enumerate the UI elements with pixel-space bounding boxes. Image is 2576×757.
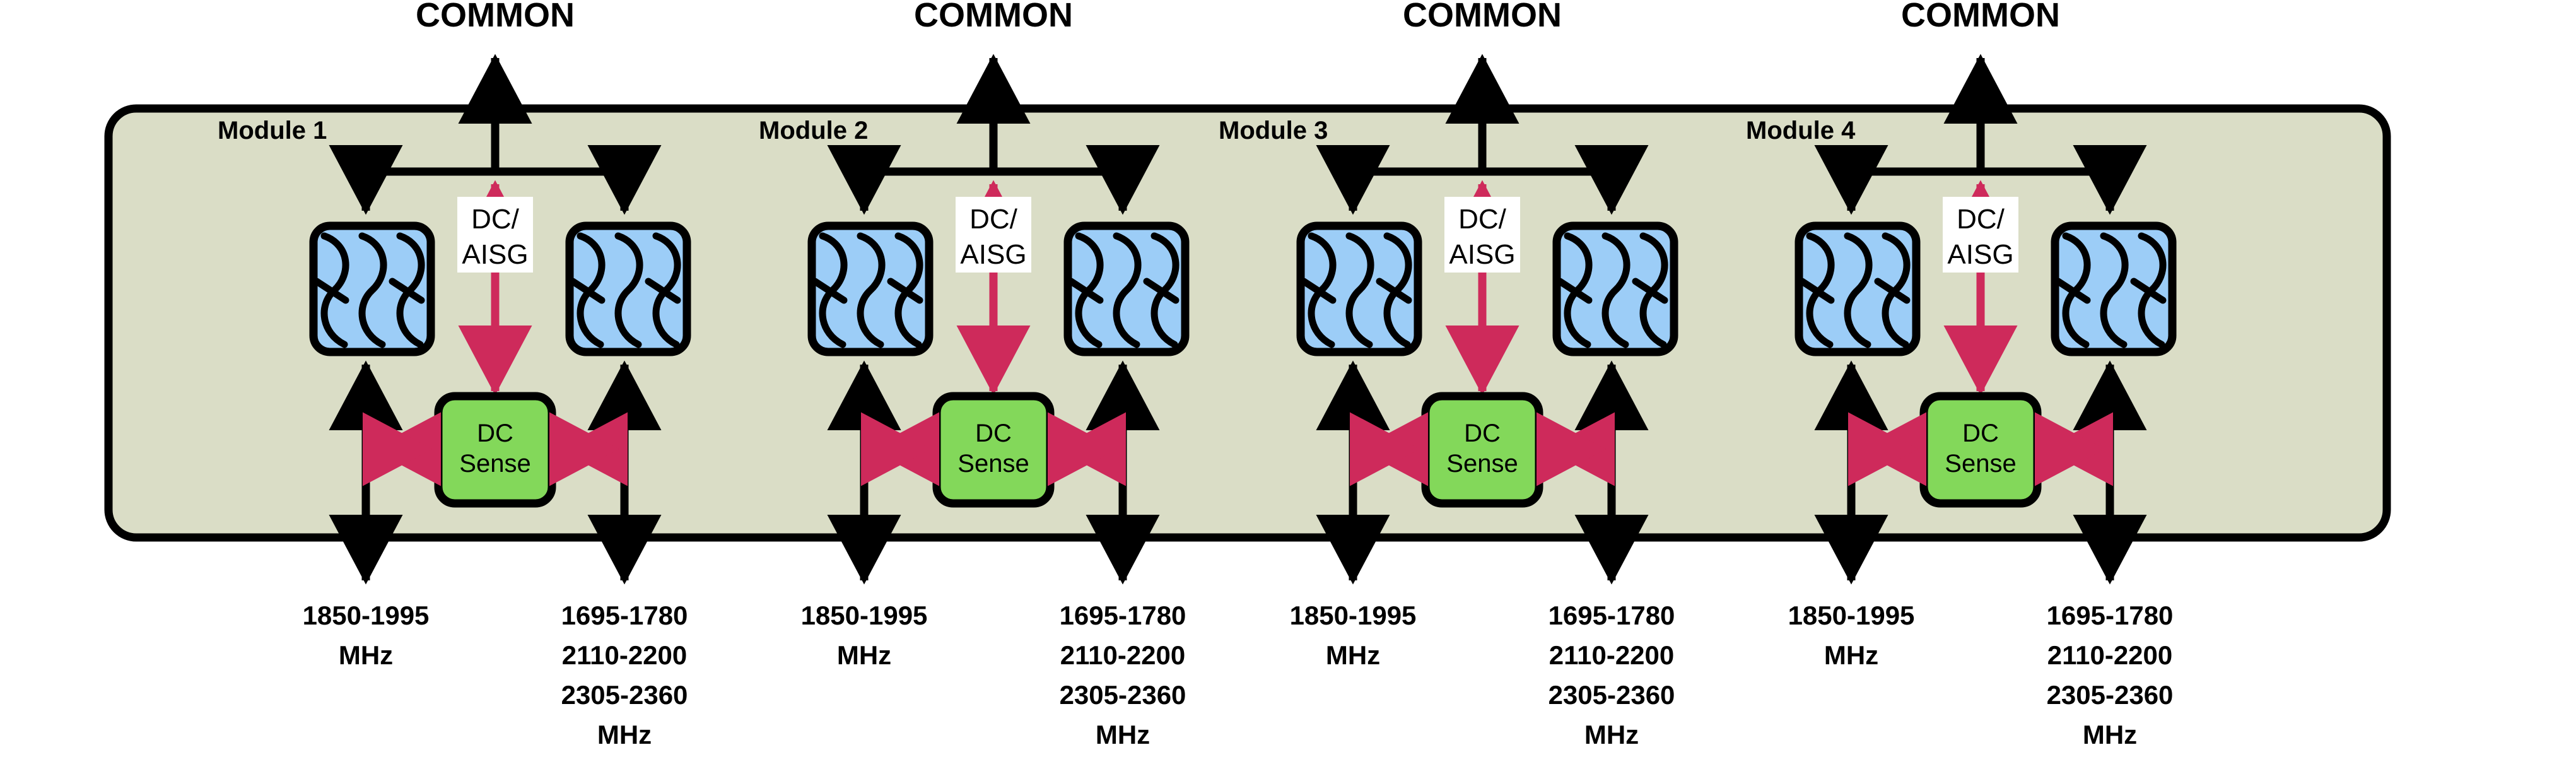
freq-right-band-3-3: 2305-2360	[1549, 680, 1675, 710]
freq-right-band-3-1: 2305-2360	[561, 680, 688, 710]
freq-left-band-1-1: 1850-1995	[303, 601, 430, 630]
freq-right-unit-3: MHz	[1584, 720, 1639, 749]
module-label-4: Module 4	[1746, 117, 1856, 144]
diagram-canvas: COMMON DC/ AISG DC Sense	[0, 0, 2576, 757]
freq-right-band-1-2: 1695-1780	[1060, 601, 1186, 630]
common-label-1: COMMON	[416, 0, 575, 34]
dc-sense-label-line1-1: DC	[477, 420, 513, 447]
freq-left-band-1-4: 1850-1995	[1788, 601, 1915, 630]
dc-aisg-label-line1-2: DC/	[969, 204, 1018, 235]
dc-sense-label-line2-4: Sense	[1945, 450, 2016, 478]
dc-sense-label-line1-4: DC	[1962, 420, 1999, 447]
freq-right-band-1-4: 1695-1780	[2047, 601, 2174, 630]
freq-left-unit-4: MHz	[1824, 640, 1878, 670]
dc-aisg-label-line1-3: DC/	[1458, 204, 1507, 235]
block-diagram-svg: COMMON DC/ AISG DC Sense	[0, 0, 2576, 757]
freq-left-unit-2: MHz	[837, 640, 891, 670]
dc-aisg-label-line2-2: AISG	[960, 239, 1026, 270]
freq-right-band-2-1: 2110-2200	[562, 640, 688, 670]
dc-aisg-label-line2-4: AISG	[1947, 239, 2013, 270]
module-label-2: Module 2	[759, 117, 868, 144]
dc-sense-label-line2-2: Sense	[957, 450, 1029, 478]
freq-right-band-3-4: 2305-2360	[2047, 680, 2174, 710]
freq-right-unit-1: MHz	[597, 720, 652, 749]
freq-left-unit-3: MHz	[1326, 640, 1380, 670]
module-label-3: Module 3	[1219, 117, 1328, 144]
dc-sense-label-line1-3: DC	[1464, 420, 1501, 447]
dc-aisg-label-line1-1: DC/	[471, 204, 520, 235]
module-label-1: Module 1	[218, 117, 327, 144]
freq-right-band-1-3: 1695-1780	[1549, 601, 1675, 630]
common-label-2: COMMON	[914, 0, 1073, 34]
freq-right-band-2-4: 2110-2200	[2047, 640, 2173, 670]
dc-sense-label-line2-3: Sense	[1446, 450, 1518, 478]
freq-right-band-2-3: 2110-2200	[1549, 640, 1675, 670]
freq-right-unit-2: MHz	[1096, 720, 1150, 749]
freq-right-unit-4: MHz	[2083, 720, 2137, 749]
dc-aisg-label-line2-1: AISG	[462, 239, 528, 270]
dc-sense-label-line2-1: Sense	[459, 450, 530, 478]
common-label-3: COMMON	[1403, 0, 1562, 34]
dc-sense-label-line1-2: DC	[975, 420, 1012, 447]
freq-right-band-3-2: 2305-2360	[1060, 680, 1186, 710]
freq-left-unit-1: MHz	[339, 640, 393, 670]
dc-aisg-label-line1-4: DC/	[1957, 204, 2005, 235]
freq-left-band-1-2: 1850-1995	[801, 601, 928, 630]
freq-left-band-1-3: 1850-1995	[1290, 601, 1417, 630]
freq-right-band-1-1: 1695-1780	[561, 601, 688, 630]
freq-right-band-2-2: 2110-2200	[1060, 640, 1186, 670]
common-label-4: COMMON	[1901, 0, 2060, 34]
dc-aisg-label-line2-3: AISG	[1449, 239, 1515, 270]
